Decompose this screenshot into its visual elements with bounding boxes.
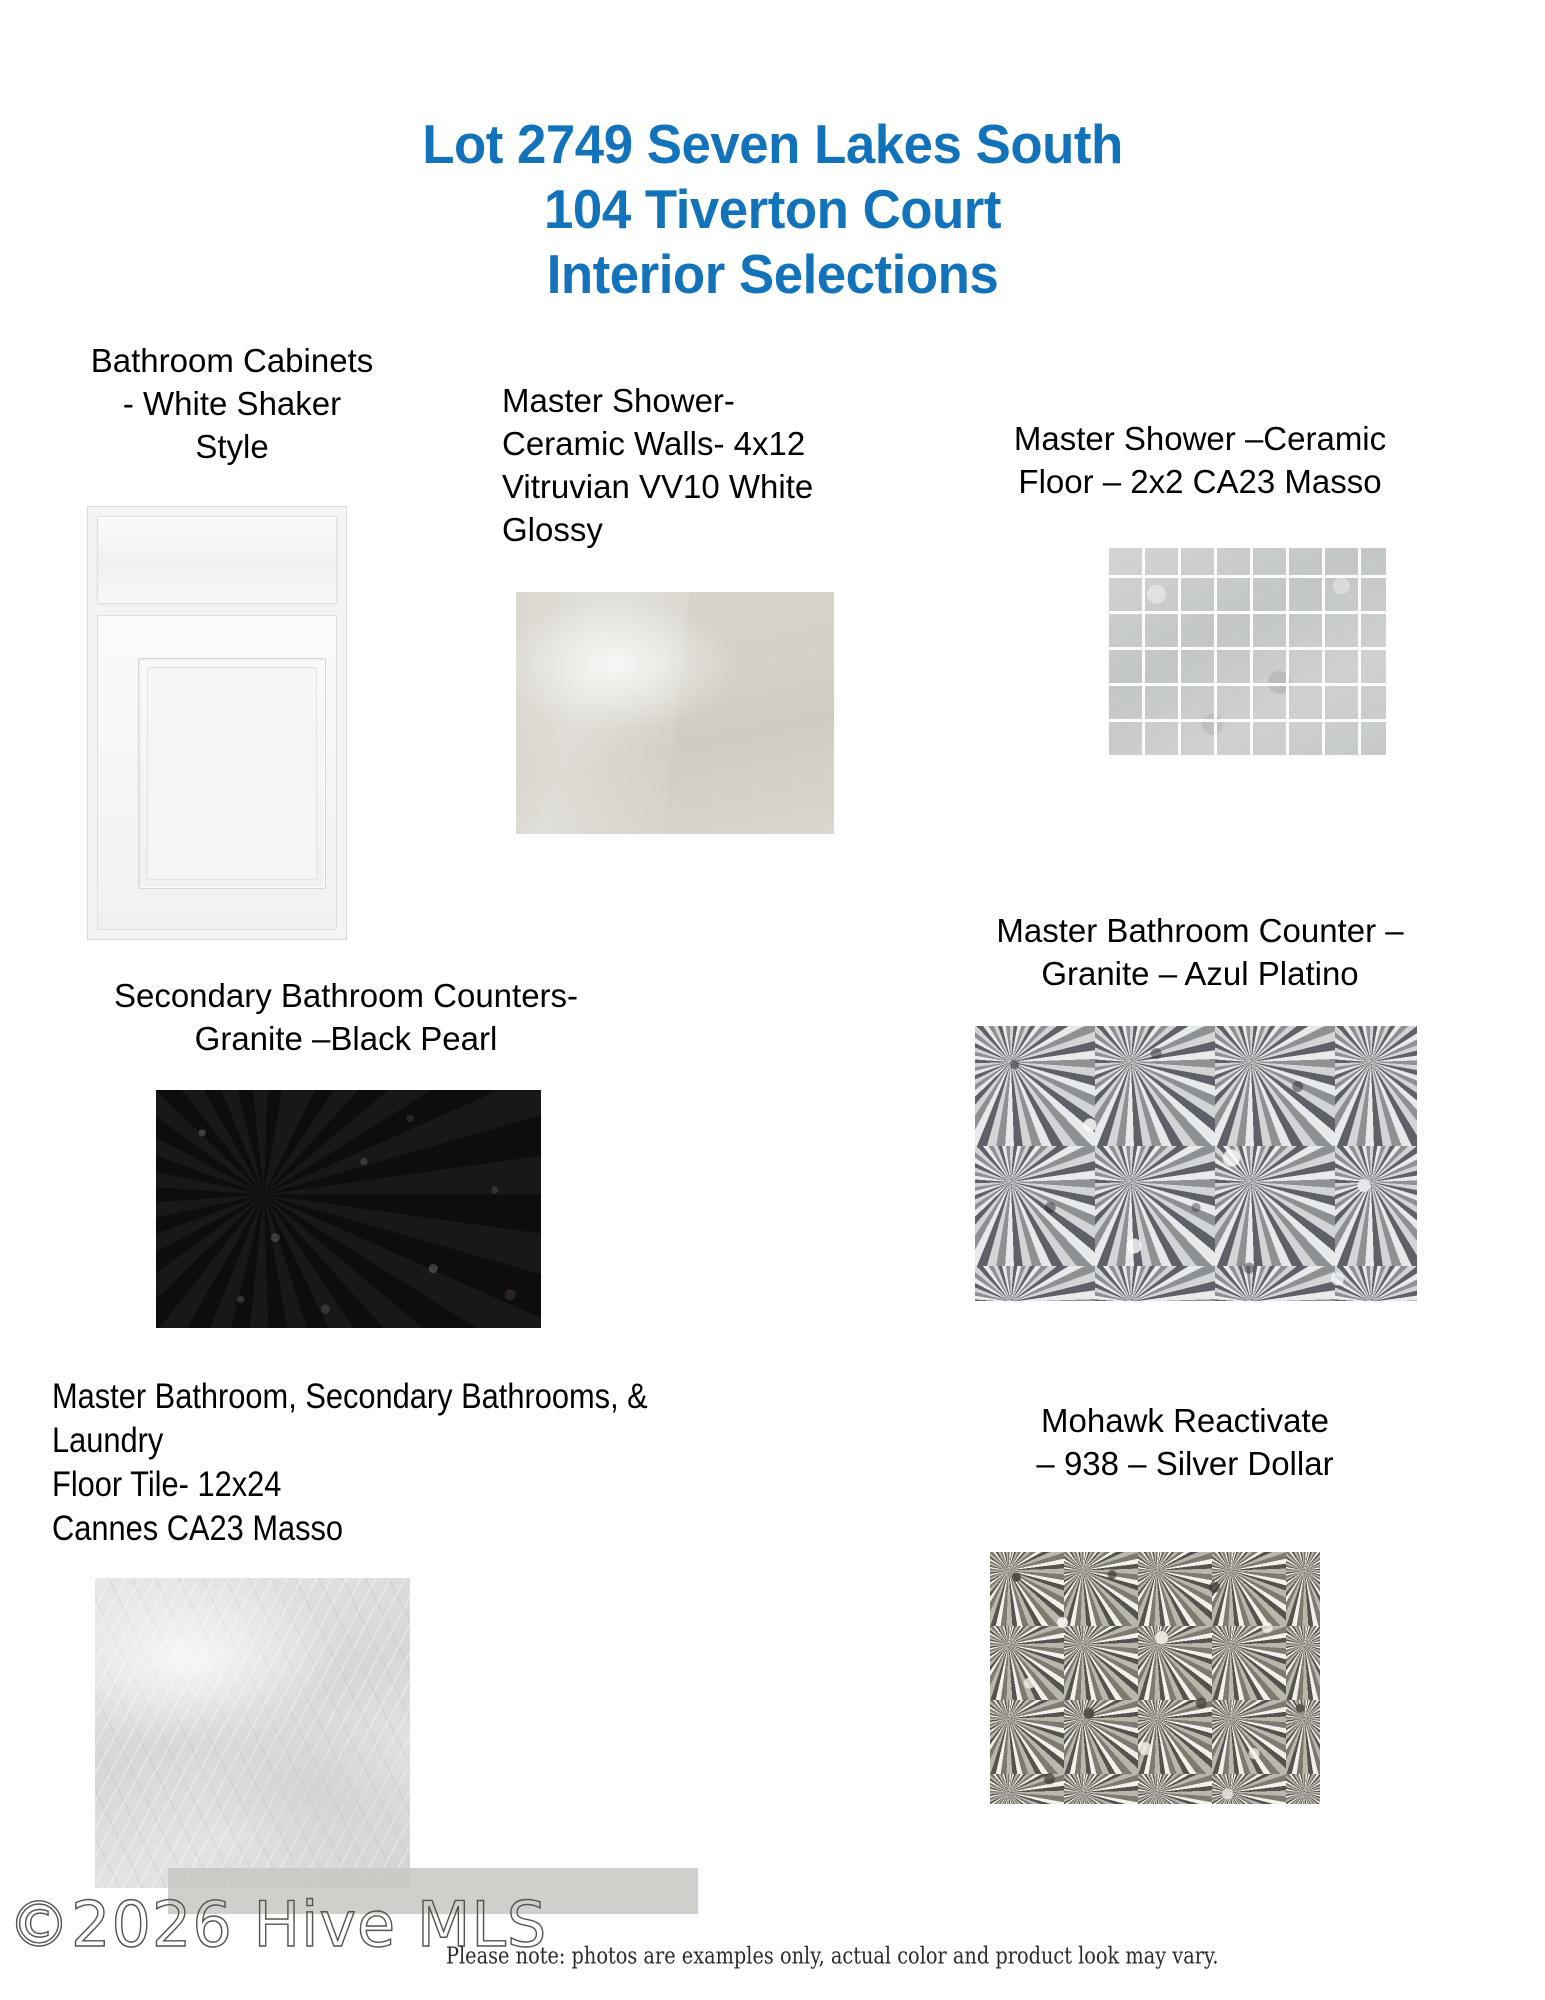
title-line-2: 104 Tiverton Court [31,177,1514,242]
cabinet-door-center-panel [147,667,317,880]
cabinet-drawer-front [97,516,337,604]
swatch-black-pearl-granite [156,1090,541,1328]
caption-secondary-bathroom-counters: Secondary Bathroom Counters- Granite –Bl… [36,975,656,1061]
swatch-azul-platino-granite [975,1026,1417,1301]
caption-master-shower-floor: Master Shower –Ceramic Floor – 2x2 CA23 … [960,418,1440,504]
caption-bath-laundry-floor-tile: Master Bathroom, Secondary Bathrooms, & … [52,1375,844,1551]
cabinet-door-panel [97,615,337,930]
caption-master-bathroom-counter: Master Bathroom Counter – Granite – Azul… [920,910,1480,996]
swatch-white-shaker-cabinet-door [87,506,347,940]
caption-bathroom-cabinets: Bathroom Cabinets - White Shaker Style [52,340,412,469]
swatch-gray-mosaic-ceramic-floor-tile [1106,548,1386,758]
page-title: Lot 2749 Seven Lakes South 104 Tiverton … [0,112,1545,307]
swatch-mohawk-reactivate-silver-dollar-carpet [990,1552,1320,1804]
caption-carpet: Mohawk Reactivate – 938 – Silver Dollar [960,1400,1410,1486]
footer-disclaimer: Please note: photos are examples only, a… [446,1942,1218,1969]
selection-sheet-page: Lot 2749 Seven Lakes South 104 Tiverton … [0,0,1545,2000]
caption-master-shower-walls: Master Shower- Ceramic Walls- 4x12 Vitru… [502,380,902,552]
cabinet-door-recess [138,658,326,889]
title-line-3: Interior Selections [31,242,1514,307]
title-line-1: Lot 2749 Seven Lakes South [31,112,1514,177]
swatch-cannes-masso-porcelain-floor-tile [95,1578,410,1888]
swatch-glossy-white-ceramic-wall-tile [516,592,834,834]
